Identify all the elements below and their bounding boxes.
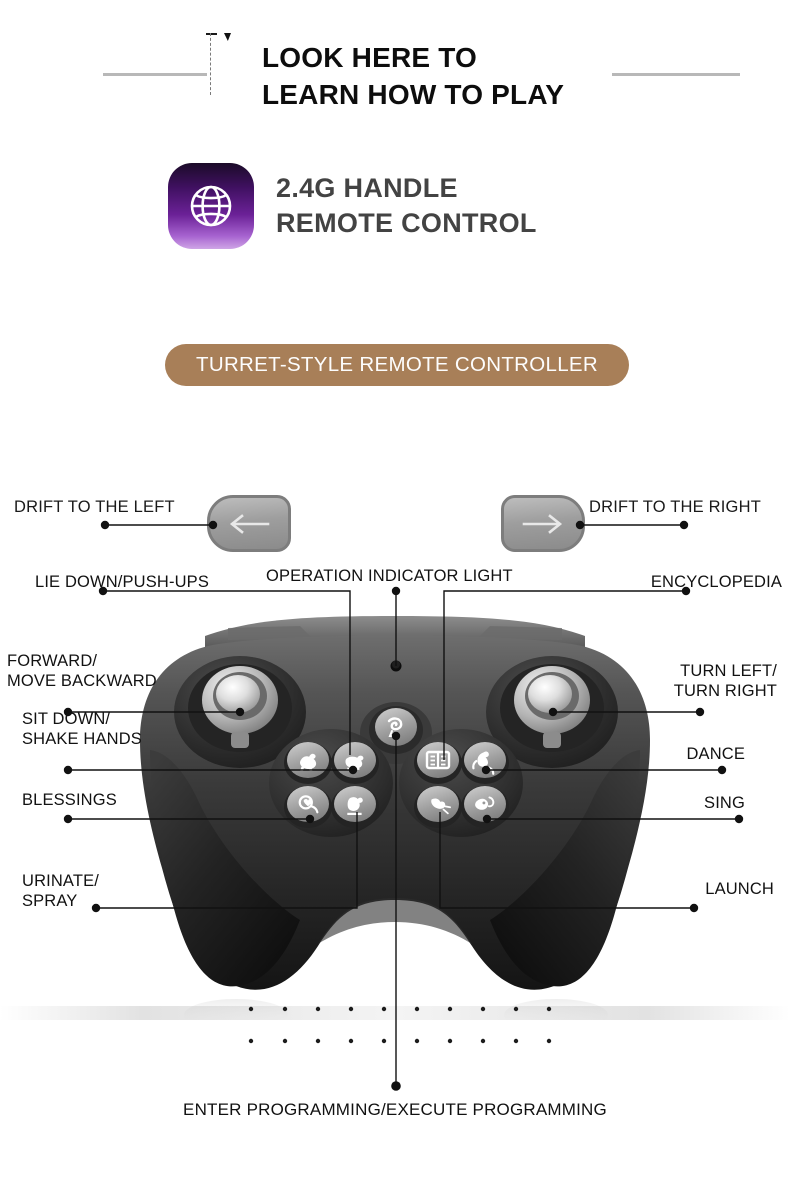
callout-forward-move-backward: FORWARD/ MOVE BACKWARD [7,651,157,691]
label-drift-to-the-left: DRIFT TO THE LEFT [14,498,175,517]
arrow-right-icon [521,513,565,535]
header-rule-left [103,73,207,76]
callout-launch: LAUNCH [705,879,774,899]
left-button-cluster [269,729,393,837]
drift-left-button[interactable] [207,495,291,552]
page-title-line1: LOOK HERE TO [262,40,762,77]
callout-urinate-spray: URINATE/ SPRAY [22,871,99,911]
button-blessings-area [284,742,332,784]
banner-pill: TURRET-STYLE REMOTE CONTROLLER [165,344,629,386]
drift-right-button[interactable] [501,495,585,552]
callout-dance: DANCE [686,744,745,764]
callout-lie-down-push-ups: LIE DOWN/PUSH-UPS [35,572,209,592]
arrow-left-icon [227,513,271,535]
header-dashed-divider [210,33,211,95]
header-tick-mark [206,33,217,35]
page-title: LOOK HERE TO LEARN HOW TO PLAY [262,40,762,114]
brand-text: 2.4G HANDLE REMOTE CONTROL [276,171,537,241]
right-button-cluster [399,729,523,837]
callout-operation-indicator-light: OPERATION INDICATOR LIGHT [266,566,513,586]
label-drift-to-the-right: DRIFT TO THE RIGHT [589,498,761,517]
page-title-line2: LEARN HOW TO PLAY [262,77,762,114]
callout-sit-down-shake-hands: SIT DOWN/ SHAKE HANDS [22,709,142,749]
brand-row: 2.4G HANDLE REMOTE CONTROL [168,163,537,249]
callout-blessings: BLESSINGS [22,790,117,810]
brand-line2: REMOTE CONTROL [276,206,537,241]
globe-icon [168,163,254,249]
brand-line1: 2.4G HANDLE [276,171,537,206]
callout-enter-execute-programming: ENTER PROGRAMMING/EXECUTE PROGRAMMING [0,1100,790,1120]
callout-encyclopedia: ENCYCLOPEDIA [651,572,782,592]
callout-sing: SING [704,793,745,813]
infographic-page: LOOK HERE TO LEARN HOW TO PLAY 2.4G HAND… [0,0,790,1181]
callout-turn-left-turn-right: TURN LEFT/ TURN RIGHT [674,661,777,701]
header-accent-mark [224,33,231,41]
